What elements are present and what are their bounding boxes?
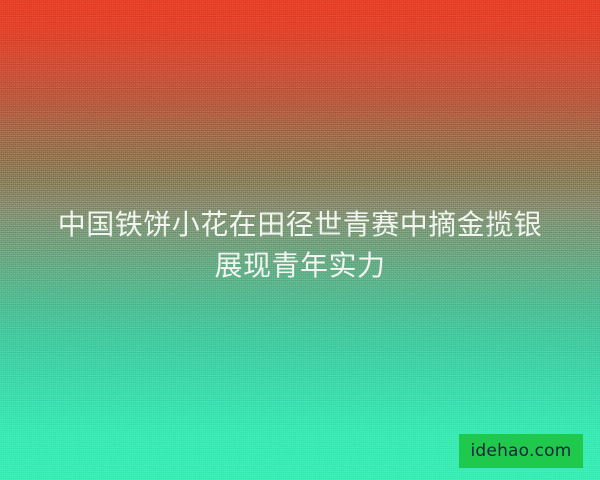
watermark-label: idehao.com xyxy=(471,443,572,460)
headline-text: 中国铁饼小花在田径世青赛中摘金揽银 展现青年实力 xyxy=(0,204,600,286)
article-cover-image: 中国铁饼小花在田径世青赛中摘金揽银 展现青年实力 idehao.com xyxy=(0,0,600,480)
watermark-badge: idehao.com xyxy=(459,434,583,468)
